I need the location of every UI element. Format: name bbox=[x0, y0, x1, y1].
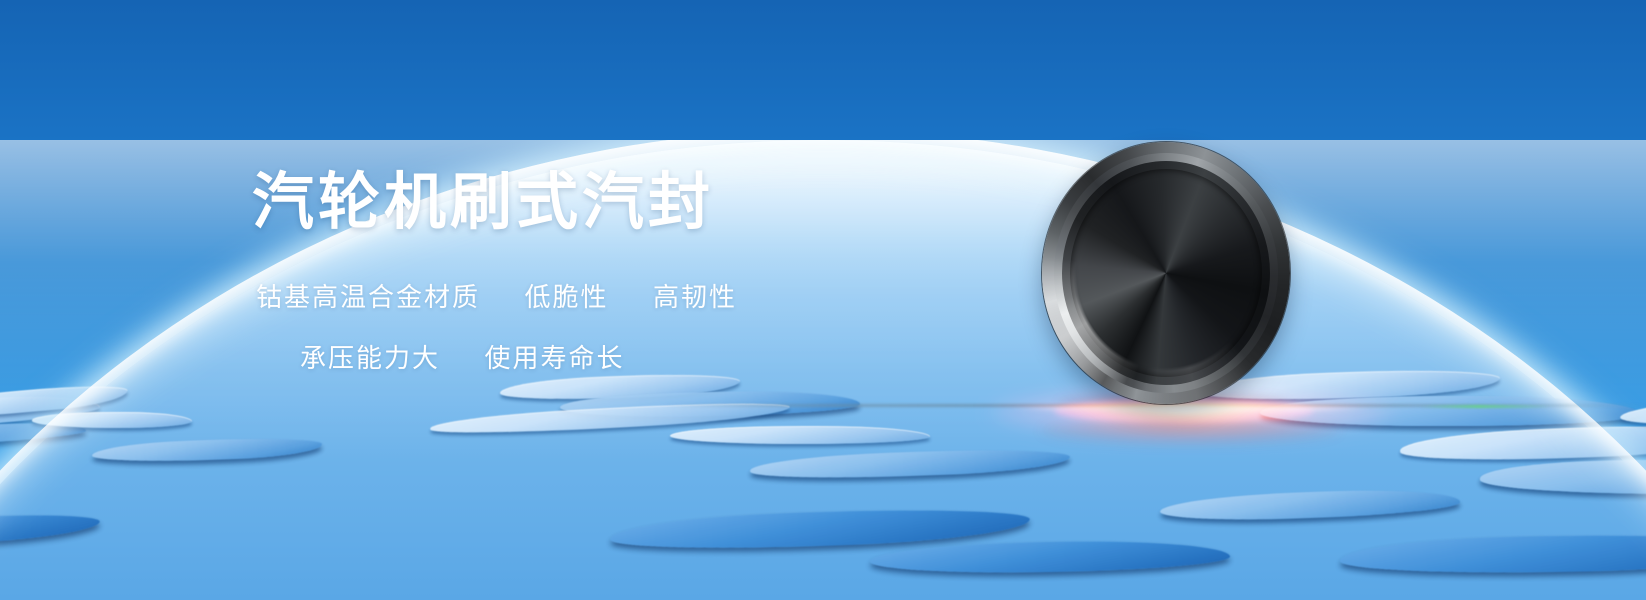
banner-headline: 汽轮机刷式汽封 bbox=[252, 168, 892, 237]
landmass-shape bbox=[750, 446, 1071, 481]
brush-seal-ring bbox=[1042, 142, 1290, 404]
landmass-shape bbox=[1160, 487, 1461, 523]
ring-bore bbox=[1070, 169, 1262, 377]
landmass-shape bbox=[1340, 532, 1646, 575]
landmass-shape bbox=[0, 510, 100, 552]
landmass-shape bbox=[870, 539, 1230, 575]
landmass-shape bbox=[32, 412, 192, 428]
landmass-shape bbox=[92, 436, 323, 464]
subtitle-item: 使用寿命长 bbox=[484, 343, 624, 373]
banner-subtitle-line-2: 承压能力大 使用寿命长 bbox=[300, 338, 892, 375]
subtitle-item: 钴基高温合金材质 bbox=[256, 282, 480, 312]
subtitle-item: 高韧性 bbox=[653, 282, 737, 312]
hero-banner: 汽轮机刷式汽封 钴基高温合金材质 低脆性 高韧性 承压能力大 使用寿命长 bbox=[0, 0, 1646, 600]
landmass-shape bbox=[670, 426, 930, 444]
banner-subtitle-line-1: 钴基高温合金材质 低脆性 高韧性 bbox=[256, 277, 892, 314]
glow-streak bbox=[1010, 404, 1370, 412]
subtitle-item: 低脆性 bbox=[524, 282, 608, 312]
horizon-green-accent bbox=[1420, 405, 1550, 408]
subtitle-item: 承压能力大 bbox=[300, 343, 440, 373]
banner-copy: 汽轮机刷式汽封 钴基高温合金材质 低脆性 高韧性 承压能力大 使用寿命长 bbox=[252, 168, 892, 375]
landmass-shape bbox=[1400, 422, 1646, 464]
landmass-shape bbox=[1480, 460, 1646, 494]
